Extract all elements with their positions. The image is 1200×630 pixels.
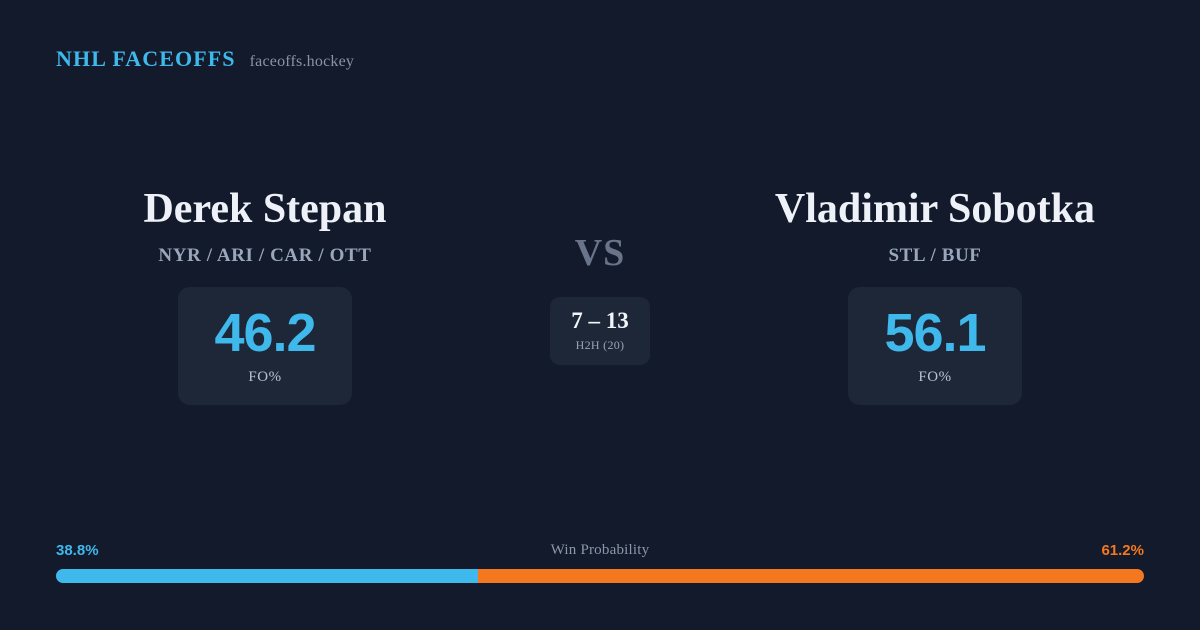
brand-logo-text: NHL FACEOFFS bbox=[56, 46, 236, 72]
win-probability-labels: 38.8% Win Probability 61.2% bbox=[56, 540, 1144, 560]
player-left-stat-label: FO% bbox=[248, 369, 281, 386]
player-left-faceoff-pct: 46.2 bbox=[214, 306, 315, 360]
win-probability-bar-left-fill bbox=[56, 569, 478, 583]
player-right-stat-label: FO% bbox=[918, 369, 951, 386]
player-left-name: Derek Stepan bbox=[143, 185, 386, 235]
player-right: Vladimir Sobotka STL / BUF 56.1 FO% bbox=[700, 185, 1170, 405]
head-to-head-box: 7 – 13 H2H (20) bbox=[550, 297, 650, 365]
site-domain-text: faceoffs.hockey bbox=[250, 53, 354, 71]
win-probability-bar bbox=[56, 569, 1144, 583]
win-probability-section: 38.8% Win Probability 61.2% bbox=[56, 540, 1144, 583]
share-card: NHL FACEOFFS faceoffs.hockey Derek Stepa… bbox=[0, 0, 1200, 630]
player-right-name: Vladimir Sobotka bbox=[775, 185, 1095, 235]
player-right-faceoff-pct: 56.1 bbox=[884, 306, 985, 360]
head-to-head-score: 7 – 13 bbox=[571, 309, 629, 332]
win-probability-bar-right-fill bbox=[478, 569, 1144, 583]
player-right-stat-card: 56.1 FO% bbox=[848, 287, 1022, 405]
player-left-teams: NYR / ARI / CAR / OTT bbox=[158, 245, 371, 267]
player-right-teams: STL / BUF bbox=[888, 245, 981, 267]
site-header: NHL FACEOFFS faceoffs.hockey bbox=[56, 46, 354, 72]
player-left-stat-card: 46.2 FO% bbox=[178, 287, 352, 405]
matchup-section: Derek Stepan NYR / ARI / CAR / OTT 46.2 … bbox=[0, 185, 1200, 405]
head-to-head-label: H2H (20) bbox=[576, 338, 625, 353]
versus-label: VS bbox=[575, 231, 626, 275]
player-left: Derek Stepan NYR / ARI / CAR / OTT 46.2 … bbox=[30, 185, 500, 405]
versus-column: VS 7 – 13 H2H (20) bbox=[500, 185, 700, 365]
win-probability-title: Win Probability bbox=[56, 542, 1144, 559]
